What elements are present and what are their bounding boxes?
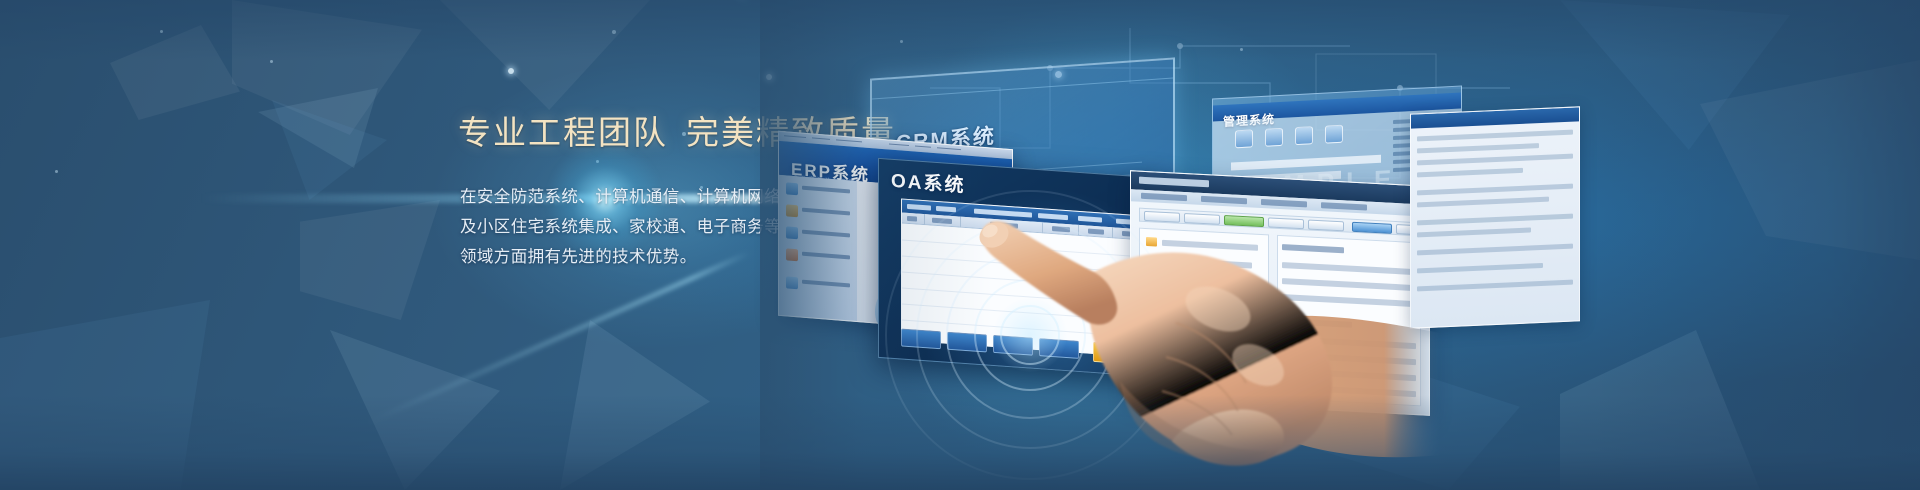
box-icon	[786, 248, 798, 261]
oa-action-button[interactable]	[901, 328, 941, 349]
gear-icon	[786, 276, 798, 289]
toolbar-icon[interactable]	[1235, 129, 1253, 148]
list-tab[interactable]	[1201, 196, 1247, 204]
erp-nav-item[interactable]	[786, 181, 852, 201]
particle-dot	[160, 30, 163, 33]
erp-nav-item[interactable]	[786, 225, 852, 245]
window-divider	[872, 77, 1173, 99]
erp-nav-item[interactable]	[786, 247, 852, 267]
menu-item-placeholder	[889, 143, 909, 146]
polygon-shape	[300, 200, 440, 320]
grid-icon	[786, 182, 798, 195]
menu-item-placeholder	[784, 135, 806, 138]
polygon-shape	[0, 300, 210, 490]
polygon-shape	[110, 25, 240, 120]
erp-nav-item[interactable]	[786, 203, 852, 223]
list-window-title-placeholder	[1139, 177, 1209, 188]
particle-dot	[55, 170, 58, 173]
software-screens-collage: CRM系统 企业客户关系管理系统 EPS10 ERP系统 企业资源计划管理	[760, 0, 1920, 490]
list-tab[interactable]	[1141, 193, 1187, 201]
detail-row	[1417, 244, 1573, 256]
toolbar-icon[interactable]	[1325, 125, 1343, 144]
pointing-hand-icon	[940, 205, 1440, 490]
detail-row	[1417, 143, 1539, 153]
oa-window-title: OA系统	[891, 166, 966, 198]
erp-nav-item[interactable]	[786, 275, 852, 295]
hero-banner: 专业工程团队完美精致质量 在安全防范系统、计算机通信、计算机网络、智能大厦 及小…	[0, 0, 1920, 490]
detail-row	[1417, 280, 1573, 292]
toolbar-icon[interactable]	[1295, 126, 1313, 145]
erp-sidebar[interactable]	[779, 175, 857, 321]
detail-row	[1417, 130, 1573, 142]
menu-item-placeholder	[836, 139, 862, 142]
menu-item-placeholder	[915, 146, 931, 148]
toolbar-icon[interactable]	[1265, 128, 1283, 147]
particle-dot	[270, 60, 273, 63]
person-icon	[786, 204, 798, 217]
toolbar-button[interactable]	[907, 204, 931, 211]
detail-row	[1417, 214, 1573, 226]
menu-item-placeholder	[812, 137, 830, 139]
detail-row	[1417, 168, 1523, 178]
detail-row	[1417, 184, 1573, 196]
monitor-icon	[786, 226, 798, 239]
column-header	[907, 216, 917, 222]
detail-row	[1417, 154, 1573, 166]
column-separator	[924, 214, 925, 225]
menu-item-placeholder	[937, 147, 961, 150]
headline-part-left: 专业工程团队	[458, 113, 668, 152]
